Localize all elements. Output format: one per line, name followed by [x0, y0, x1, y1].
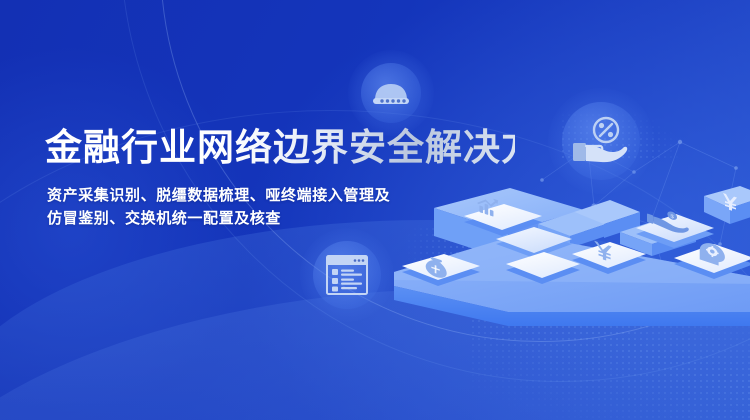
hand-percent-icon [570, 115, 632, 167]
subtitle-line-2: 仿冒鉴别、交换机统一配置及核查 [47, 207, 515, 230]
yen-block-tile [704, 186, 750, 224]
subtitle-line-1: 资产采集识别、脱缰数据梳理、哑终端接入管理及 [47, 184, 515, 207]
page-title: 金融行业网络边界安全解决方案 [45, 124, 515, 172]
document-list-icon [326, 255, 368, 295]
banner-root: $ 金融行业网络边界安全解决方案 [0, 0, 750, 420]
subtitle-block: 资产采集识别、脱缰数据梳理、哑终端接入管理及 仿冒鉴别、交换机统一配置及核查 [47, 184, 515, 230]
left-glow [0, 40, 260, 420]
headline-block: 金融行业网络边界安全解决方案 资产采集识别、脱缰数据梳理、哑终端接入管理及 仿冒… [45, 124, 515, 230]
network-switch-icon [369, 78, 413, 108]
document-list-icon-badge [300, 228, 394, 322]
